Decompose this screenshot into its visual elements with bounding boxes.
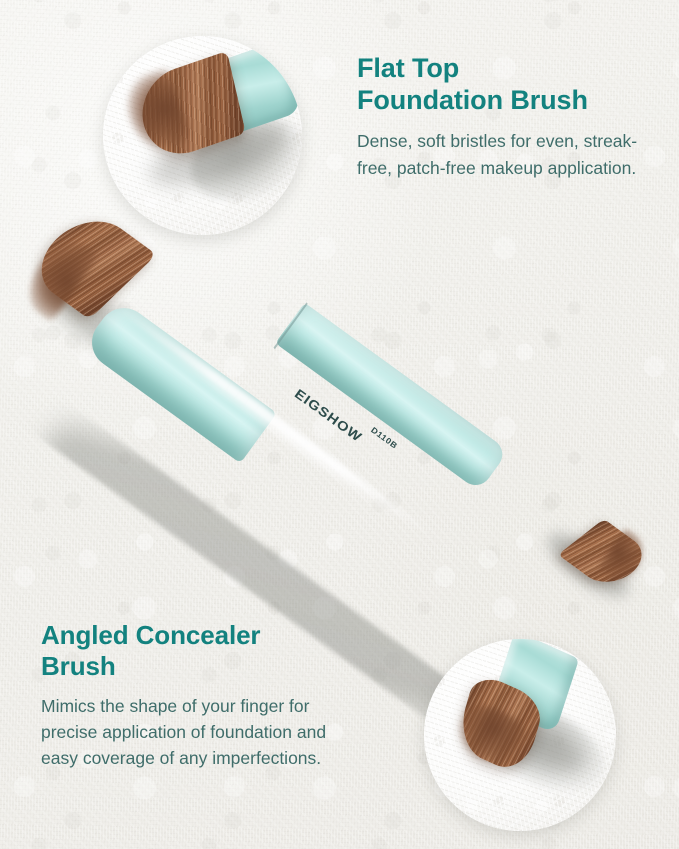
inset-photo-angled-brush: [424, 639, 616, 831]
callout-flat-top-foundation: Flat Top Foundation Brush Dense, soft br…: [357, 52, 663, 182]
callout-heading-flat-top: Flat Top Foundation Brush: [357, 52, 663, 116]
callout-heading-angled: Angled Concealer Brush: [41, 620, 353, 682]
heading-line-2: Foundation Brush: [357, 85, 588, 115]
inset-photo-flat-top-brush: [103, 36, 302, 235]
callout-body-flat-top: Dense, soft bristles for even, streak-fr…: [357, 128, 663, 182]
callout-angled-concealer: Angled Concealer Brush Mimics the shape …: [41, 620, 353, 771]
heading-line-1: Flat Top: [357, 53, 459, 83]
heading-line-2: Brush: [41, 651, 116, 681]
callout-body-angled: Mimics the shape of your finger for prec…: [41, 693, 353, 771]
heading-line-1: Angled Concealer: [41, 620, 260, 650]
product-infographic: Flat Top Foundation Brush Dense, soft br…: [0, 0, 679, 849]
